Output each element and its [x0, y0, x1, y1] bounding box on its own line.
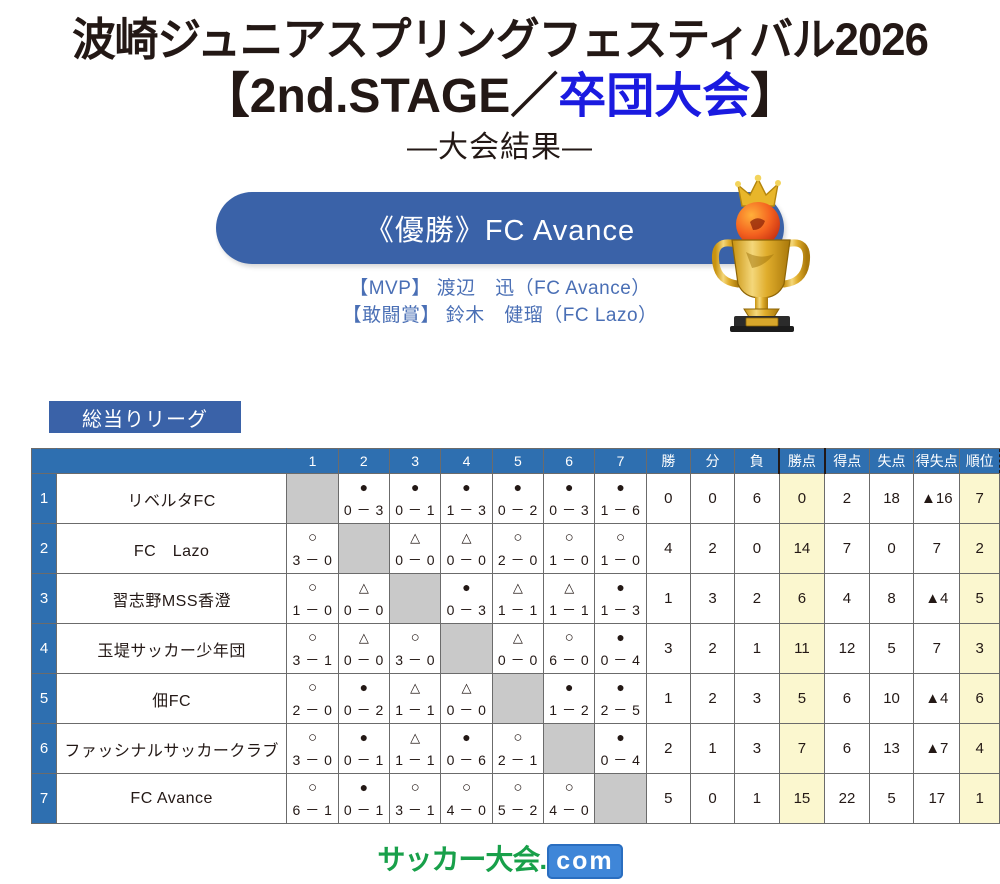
- site-logo[interactable]: サッカー大会.com: [0, 838, 1000, 878]
- match-score: 0 － 0: [441, 549, 491, 571]
- match-score: 0 － 0: [441, 699, 491, 721]
- match-score: 1 － 3: [595, 599, 645, 621]
- stat-win: 1: [646, 574, 690, 624]
- result-win-icon: [287, 776, 337, 799]
- stat-draw: 2: [690, 624, 734, 674]
- award-mvp: 【MVP】 渡辺 迅（FC Avance）: [0, 276, 1000, 303]
- result-win-icon: [390, 776, 440, 799]
- match-cell: 3 － 0: [287, 524, 338, 574]
- award-fighting-spirit: 【敢闘賞】 鈴木 健瑠（FC Lazo）: [0, 303, 1000, 330]
- result-draw-icon: [390, 676, 440, 699]
- match-score: 1 － 2: [544, 699, 594, 721]
- team-name-cell: 佃FC: [57, 674, 287, 724]
- subtitle-accent: 卒団大会: [558, 70, 750, 123]
- match-cell-self: [441, 624, 492, 674]
- stat-goal-diff: ▲4: [914, 574, 960, 624]
- col-header-opponent-5: 5: [492, 449, 543, 474]
- table-row: 3習志野MSS香澄1 － 00 － 00 － 31 － 11 － 11 － 31…: [32, 574, 1000, 624]
- stat-win: 0: [646, 474, 690, 524]
- stat-goals-against: 5: [869, 774, 913, 824]
- stat-win: 2: [646, 724, 690, 774]
- stat-goals-for: 12: [825, 624, 870, 674]
- match-score: 1 － 0: [544, 549, 594, 571]
- league-standings-table: 1 2 3 4 5 6 7 勝 分 負 勝点 得点 失点 得失点 順位 1リベル…: [31, 448, 1000, 824]
- result-win-icon: [287, 576, 337, 599]
- stat-points: 14: [779, 524, 824, 574]
- match-score: 0 － 3: [339, 499, 389, 521]
- stat-rank: 5: [960, 574, 1000, 624]
- result-win-icon: [441, 776, 491, 799]
- match-cell: 0 － 0: [338, 574, 389, 624]
- result-draw-icon: [441, 676, 491, 699]
- match-cell-self: [492, 674, 543, 724]
- stat-goal-diff: ▲4: [914, 674, 960, 724]
- match-score: 3 － 1: [287, 649, 337, 671]
- stat-lose: 1: [735, 774, 780, 824]
- match-cell: 2 － 5: [595, 674, 646, 724]
- col-header-win: 勝: [646, 449, 690, 474]
- stat-win: 1: [646, 674, 690, 724]
- match-cell: 4 － 0: [544, 774, 595, 824]
- match-cell: 0 － 3: [338, 474, 389, 524]
- match-score: 1 － 1: [390, 749, 440, 771]
- table-row: 7FC Avance6 － 10 － 13 － 14 － 05 － 24 － 0…: [32, 774, 1000, 824]
- table-row: 4玉堤サッカー少年団3 － 10 － 03 － 00 － 06 － 00 － 4…: [32, 624, 1000, 674]
- match-cell: 0 － 2: [492, 474, 543, 524]
- result-lose-icon: [390, 476, 440, 499]
- result-lose-icon: [441, 476, 491, 499]
- row-number: 4: [32, 624, 57, 674]
- result-win-icon: [390, 626, 440, 649]
- match-score: 0 － 1: [339, 799, 389, 821]
- match-score: 0 － 0: [339, 649, 389, 671]
- match-score: 0 － 3: [544, 499, 594, 521]
- result-lose-icon: [339, 676, 389, 699]
- match-score: 1 － 0: [595, 549, 645, 571]
- page-title-block: 波崎ジュニアスプリングフェスティバル2026 【2nd.STAGE／卒団大会】 …: [0, 0, 1000, 166]
- row-number: 1: [32, 474, 57, 524]
- result-win-icon: [493, 526, 543, 549]
- match-cell: 0 － 3: [441, 574, 492, 624]
- result-win-icon: [595, 526, 645, 549]
- result-draw-icon: [390, 526, 440, 549]
- stat-goals-for: 7: [825, 524, 870, 574]
- col-header-goal-diff: 得失点: [914, 449, 960, 474]
- stat-points: 7: [779, 724, 824, 774]
- match-score: 6 － 1: [287, 799, 337, 821]
- match-cell: 1 － 0: [544, 524, 595, 574]
- result-lose-icon: [339, 776, 389, 799]
- match-score: 1 － 1: [544, 599, 594, 621]
- stat-lose: 6: [735, 474, 780, 524]
- league-table-wrapper: 1 2 3 4 5 6 7 勝 分 負 勝点 得点 失点 得失点 順位 1リベル…: [31, 448, 1000, 824]
- table-header: 1 2 3 4 5 6 7 勝 分 負 勝点 得点 失点 得失点 順位: [32, 449, 1000, 474]
- match-score: 2 － 5: [595, 699, 645, 721]
- stat-goals-against: 13: [869, 724, 913, 774]
- subtitle-prefix: 【2nd.STAGE／: [202, 70, 558, 123]
- result-win-icon: [493, 726, 543, 749]
- champion-label: 《優勝》FC Avance: [365, 207, 635, 249]
- match-cell: 1 － 2: [544, 674, 595, 724]
- match-score: 3 － 0: [287, 749, 337, 771]
- stat-goal-diff: ▲16: [914, 474, 960, 524]
- match-cell: 3 － 1: [287, 624, 338, 674]
- stat-goals-against: 8: [869, 574, 913, 624]
- match-score: 6 － 0: [544, 649, 594, 671]
- row-number: 6: [32, 724, 57, 774]
- team-name-cell: ファッシナルサッカークラブ: [57, 724, 287, 774]
- col-header-goals-for: 得点: [825, 449, 870, 474]
- team-name-cell: FC Lazo: [57, 524, 287, 574]
- match-cell: 0 － 2: [338, 674, 389, 724]
- col-header-no: [32, 449, 57, 474]
- team-name-cell: 玉堤サッカー少年団: [57, 624, 287, 674]
- stat-goals-against: 18: [869, 474, 913, 524]
- match-score: 3 － 0: [287, 549, 337, 571]
- result-win-icon: [287, 726, 337, 749]
- match-cell: 3 － 0: [287, 724, 338, 774]
- stat-lose: 1: [735, 624, 780, 674]
- subtitle-suffix: 】: [750, 70, 798, 123]
- row-number: 7: [32, 774, 57, 824]
- match-score: 0 － 1: [339, 749, 389, 771]
- match-cell: 5 － 2: [492, 774, 543, 824]
- result-win-icon: [493, 776, 543, 799]
- stat-lose: 2: [735, 574, 780, 624]
- stat-rank: 6: [960, 674, 1000, 724]
- table-row: 1リベルタFC0 － 30 － 11 － 30 － 20 － 31 － 6006…: [32, 474, 1000, 524]
- match-score: 1 － 1: [493, 599, 543, 621]
- stat-win: 3: [646, 624, 690, 674]
- match-cell: 1 － 3: [595, 574, 646, 624]
- match-score: 2 － 0: [493, 549, 543, 571]
- table-header-row: 1 2 3 4 5 6 7 勝 分 負 勝点 得点 失点 得失点 順位: [32, 449, 1000, 474]
- match-cell: 6 － 0: [544, 624, 595, 674]
- champion-section: 《優勝》FC Avance: [0, 172, 1000, 342]
- stat-goal-diff: 7: [914, 524, 960, 574]
- awards-block: 【MVP】 渡辺 迅（FC Avance） 【敢闘賞】 鈴木 健瑠（FC Laz…: [0, 276, 1000, 330]
- table-body: 1リベルタFC0 － 30 － 11 － 30 － 20 － 31 － 6006…: [32, 474, 1000, 824]
- stat-rank: 3: [960, 624, 1000, 674]
- result-lose-icon: [544, 676, 594, 699]
- stat-lose: 3: [735, 674, 780, 724]
- result-win-icon: [287, 526, 337, 549]
- match-score: 0 － 0: [339, 599, 389, 621]
- col-header-draw: 分: [690, 449, 734, 474]
- match-score: 1 － 3: [441, 499, 491, 521]
- result-draw-icon: [544, 576, 594, 599]
- match-cell: 0 － 4: [595, 724, 646, 774]
- champion-banner: 《優勝》FC Avance: [216, 192, 784, 264]
- col-header-opponent-4: 4: [441, 449, 492, 474]
- match-cell: 4 － 0: [441, 774, 492, 824]
- match-cell: 2 － 0: [492, 524, 543, 574]
- match-score: 0 － 2: [493, 499, 543, 521]
- match-cell: 1 － 1: [390, 724, 441, 774]
- col-header-opponent-7: 7: [595, 449, 646, 474]
- result-lose-icon: [339, 476, 389, 499]
- match-cell: 3 － 1: [390, 774, 441, 824]
- stat-draw: 2: [690, 674, 734, 724]
- col-header-opponent-3: 3: [390, 449, 441, 474]
- page-title: 波崎ジュニアスプリングフェスティバル2026: [15, 16, 985, 63]
- col-header-opponent-6: 6: [544, 449, 595, 474]
- logo-dot: .: [539, 844, 546, 875]
- stat-points: 0: [779, 474, 824, 524]
- match-score: 2 － 0: [287, 699, 337, 721]
- result-lose-icon: [595, 476, 645, 499]
- stat-draw: 1: [690, 724, 734, 774]
- match-score: 3 － 1: [390, 799, 440, 821]
- match-cell: 0 － 4: [595, 624, 646, 674]
- match-score: 0 － 3: [441, 599, 491, 621]
- match-score: 0 － 4: [595, 649, 645, 671]
- table-row: 5佃FC2 － 00 － 21 － 10 － 01 － 22 － 5123561…: [32, 674, 1000, 724]
- row-number: 2: [32, 524, 57, 574]
- stat-goals-for: 4: [825, 574, 870, 624]
- match-cell: 1 － 3: [441, 474, 492, 524]
- match-cell: 0 － 0: [441, 674, 492, 724]
- match-score: 0 － 0: [390, 549, 440, 571]
- team-name-cell: リベルタFC: [57, 474, 287, 524]
- match-cell-self: [595, 774, 646, 824]
- match-score: 0 － 0: [493, 649, 543, 671]
- match-score: 2 － 1: [493, 749, 543, 771]
- stat-goal-diff: 17: [914, 774, 960, 824]
- match-cell: 2 － 0: [287, 674, 338, 724]
- stat-goals-for: 6: [825, 674, 870, 724]
- result-lose-icon: [339, 726, 389, 749]
- result-lose-icon: [595, 626, 645, 649]
- match-cell: 2 － 1: [492, 724, 543, 774]
- stat-goals-against: 0: [869, 524, 913, 574]
- result-draw-icon: [493, 626, 543, 649]
- match-score: 0 － 1: [390, 499, 440, 521]
- table-row: 2FC Lazo3 － 00 － 00 － 02 － 01 － 01 － 042…: [32, 524, 1000, 574]
- match-score: 4 － 0: [544, 799, 594, 821]
- stat-lose: 0: [735, 524, 780, 574]
- stat-goal-diff: 7: [914, 624, 960, 674]
- stat-goals-against: 5: [869, 624, 913, 674]
- team-name-cell: 習志野MSS香澄: [57, 574, 287, 624]
- col-header-rank: 順位: [960, 449, 1000, 474]
- stat-lose: 3: [735, 724, 780, 774]
- match-cell: 0 － 3: [544, 474, 595, 524]
- result-draw-icon: [390, 726, 440, 749]
- stat-goals-for: 2: [825, 474, 870, 524]
- match-cell: 1 － 1: [390, 674, 441, 724]
- stat-rank: 4: [960, 724, 1000, 774]
- col-header-points: 勝点: [779, 449, 824, 474]
- match-score: 0 － 4: [595, 749, 645, 771]
- stat-draw: 0: [690, 774, 734, 824]
- stat-goals-for: 22: [825, 774, 870, 824]
- match-score: 1 － 6: [595, 499, 645, 521]
- stat-draw: 0: [690, 474, 734, 524]
- match-score: 1 － 1: [390, 699, 440, 721]
- result-draw-icon: [441, 526, 491, 549]
- result-lose-icon: [595, 726, 645, 749]
- match-cell-self: [338, 524, 389, 574]
- result-lose-icon: [441, 576, 491, 599]
- match-cell: 0 － 0: [492, 624, 543, 674]
- stat-points: 15: [779, 774, 824, 824]
- page-subtitle-result: ―大会結果―: [0, 130, 1000, 166]
- match-cell: 0 － 0: [441, 524, 492, 574]
- result-lose-icon: [441, 726, 491, 749]
- result-win-icon: [287, 676, 337, 699]
- match-cell-self: [390, 574, 441, 624]
- table-row: 6ファッシナルサッカークラブ3 － 00 － 11 － 10 － 62 － 10…: [32, 724, 1000, 774]
- col-header-opponent-2: 2: [338, 449, 389, 474]
- result-draw-icon: [339, 626, 389, 649]
- stat-rank: 1: [960, 774, 1000, 824]
- stat-points: 11: [779, 624, 824, 674]
- match-score: 0 － 6: [441, 749, 491, 771]
- match-cell: 0 － 1: [390, 474, 441, 524]
- stat-points: 5: [779, 674, 824, 724]
- stat-draw: 2: [690, 524, 734, 574]
- result-lose-icon: [493, 476, 543, 499]
- stat-win: 4: [646, 524, 690, 574]
- result-win-icon: [287, 626, 337, 649]
- team-name-cell: FC Avance: [57, 774, 287, 824]
- match-cell: 0 － 1: [338, 724, 389, 774]
- match-score: 4 － 0: [441, 799, 491, 821]
- match-score: 1 － 0: [287, 599, 337, 621]
- result-win-icon: [544, 526, 594, 549]
- result-lose-icon: [544, 476, 594, 499]
- col-header-lose: 負: [735, 449, 780, 474]
- stat-goal-diff: ▲7: [914, 724, 960, 774]
- result-draw-icon: [339, 576, 389, 599]
- row-number: 5: [32, 674, 57, 724]
- match-cell: 1 － 0: [595, 524, 646, 574]
- match-cell: 1 － 1: [544, 574, 595, 624]
- result-win-icon: [544, 776, 594, 799]
- stat-goals-for: 6: [825, 724, 870, 774]
- match-cell-self: [544, 724, 595, 774]
- match-score: 0 － 2: [339, 699, 389, 721]
- match-cell: 0 － 1: [338, 774, 389, 824]
- match-cell: 0 － 0: [390, 524, 441, 574]
- match-cell-self: [287, 474, 338, 524]
- col-header-goals-against: 失点: [869, 449, 913, 474]
- match-cell: 6 － 1: [287, 774, 338, 824]
- match-score: 5 － 2: [493, 799, 543, 821]
- page-subtitle: 【2nd.STAGE／卒団大会】: [0, 69, 1000, 126]
- row-number: 3: [32, 574, 57, 624]
- match-cell: 1 － 6: [595, 474, 646, 524]
- match-score: 3 － 0: [390, 649, 440, 671]
- stat-draw: 3: [690, 574, 734, 624]
- match-cell: 0 － 0: [338, 624, 389, 674]
- logo-text-jp: サッカー大会: [377, 844, 539, 875]
- result-lose-icon: [595, 676, 645, 699]
- stat-rank: 7: [960, 474, 1000, 524]
- match-cell: 0 － 6: [441, 724, 492, 774]
- match-cell: 3 － 0: [390, 624, 441, 674]
- match-cell: 1 － 1: [492, 574, 543, 624]
- col-header-opponent-1: 1: [287, 449, 338, 474]
- result-lose-icon: [595, 576, 645, 599]
- stat-goals-against: 10: [869, 674, 913, 724]
- logo-text-com: com: [547, 844, 622, 879]
- stat-rank: 2: [960, 524, 1000, 574]
- match-cell: 1 － 0: [287, 574, 338, 624]
- col-header-team: [57, 449, 287, 474]
- league-section-label: 総当りリーグ: [49, 401, 241, 433]
- stat-points: 6: [779, 574, 824, 624]
- result-win-icon: [544, 626, 594, 649]
- result-draw-icon: [493, 576, 543, 599]
- stat-win: 5: [646, 774, 690, 824]
